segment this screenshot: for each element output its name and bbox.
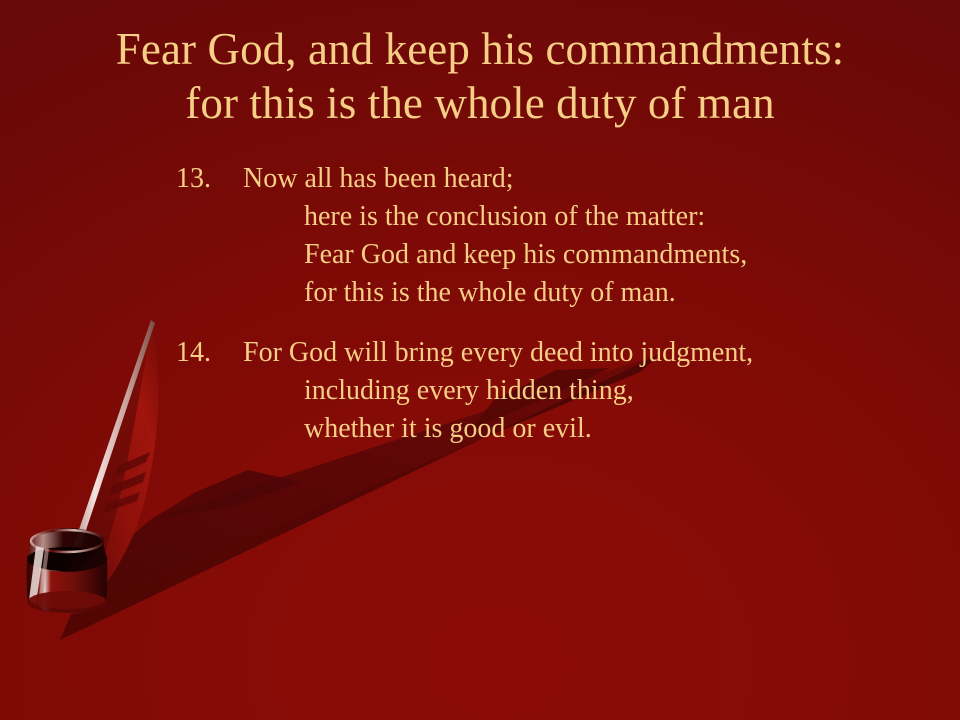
verse-item: 13. Now all has been heard; here is the … [176, 160, 936, 312]
quill-feather [52, 320, 158, 612]
verse-line: including every hidden thing, [304, 372, 936, 410]
title-line-1: Fear God, and keep his commandments: [0, 22, 960, 76]
verse-line: whether it is good or evil. [304, 410, 936, 448]
verse-line: For God will bring every deed into judgm… [243, 334, 753, 372]
verse-line: here is the conclusion of the matter: [304, 198, 936, 236]
verse-line: Fear God and keep his commandments, [304, 236, 936, 274]
verse-first-row: 14. For God will bring every deed into j… [176, 334, 936, 372]
verse-first-row: 13. Now all has been heard; [176, 160, 936, 198]
title-line-2: for this is the whole duty of man [0, 76, 960, 130]
verse-number: 14. [176, 334, 243, 372]
verse-item: 14. For God will bring every deed into j… [176, 334, 936, 448]
verse-number: 13. [176, 160, 243, 198]
verse-line: for this is the whole duty of man. [304, 274, 936, 312]
inkwell [27, 528, 108, 614]
slide-title: Fear God, and keep his commandments: for… [0, 22, 960, 130]
verse-line: Now all has been heard; [243, 160, 514, 198]
slide-body: 13. Now all has been heard; here is the … [176, 160, 936, 448]
presentation-slide: Fear God, and keep his commandments: for… [0, 0, 960, 720]
